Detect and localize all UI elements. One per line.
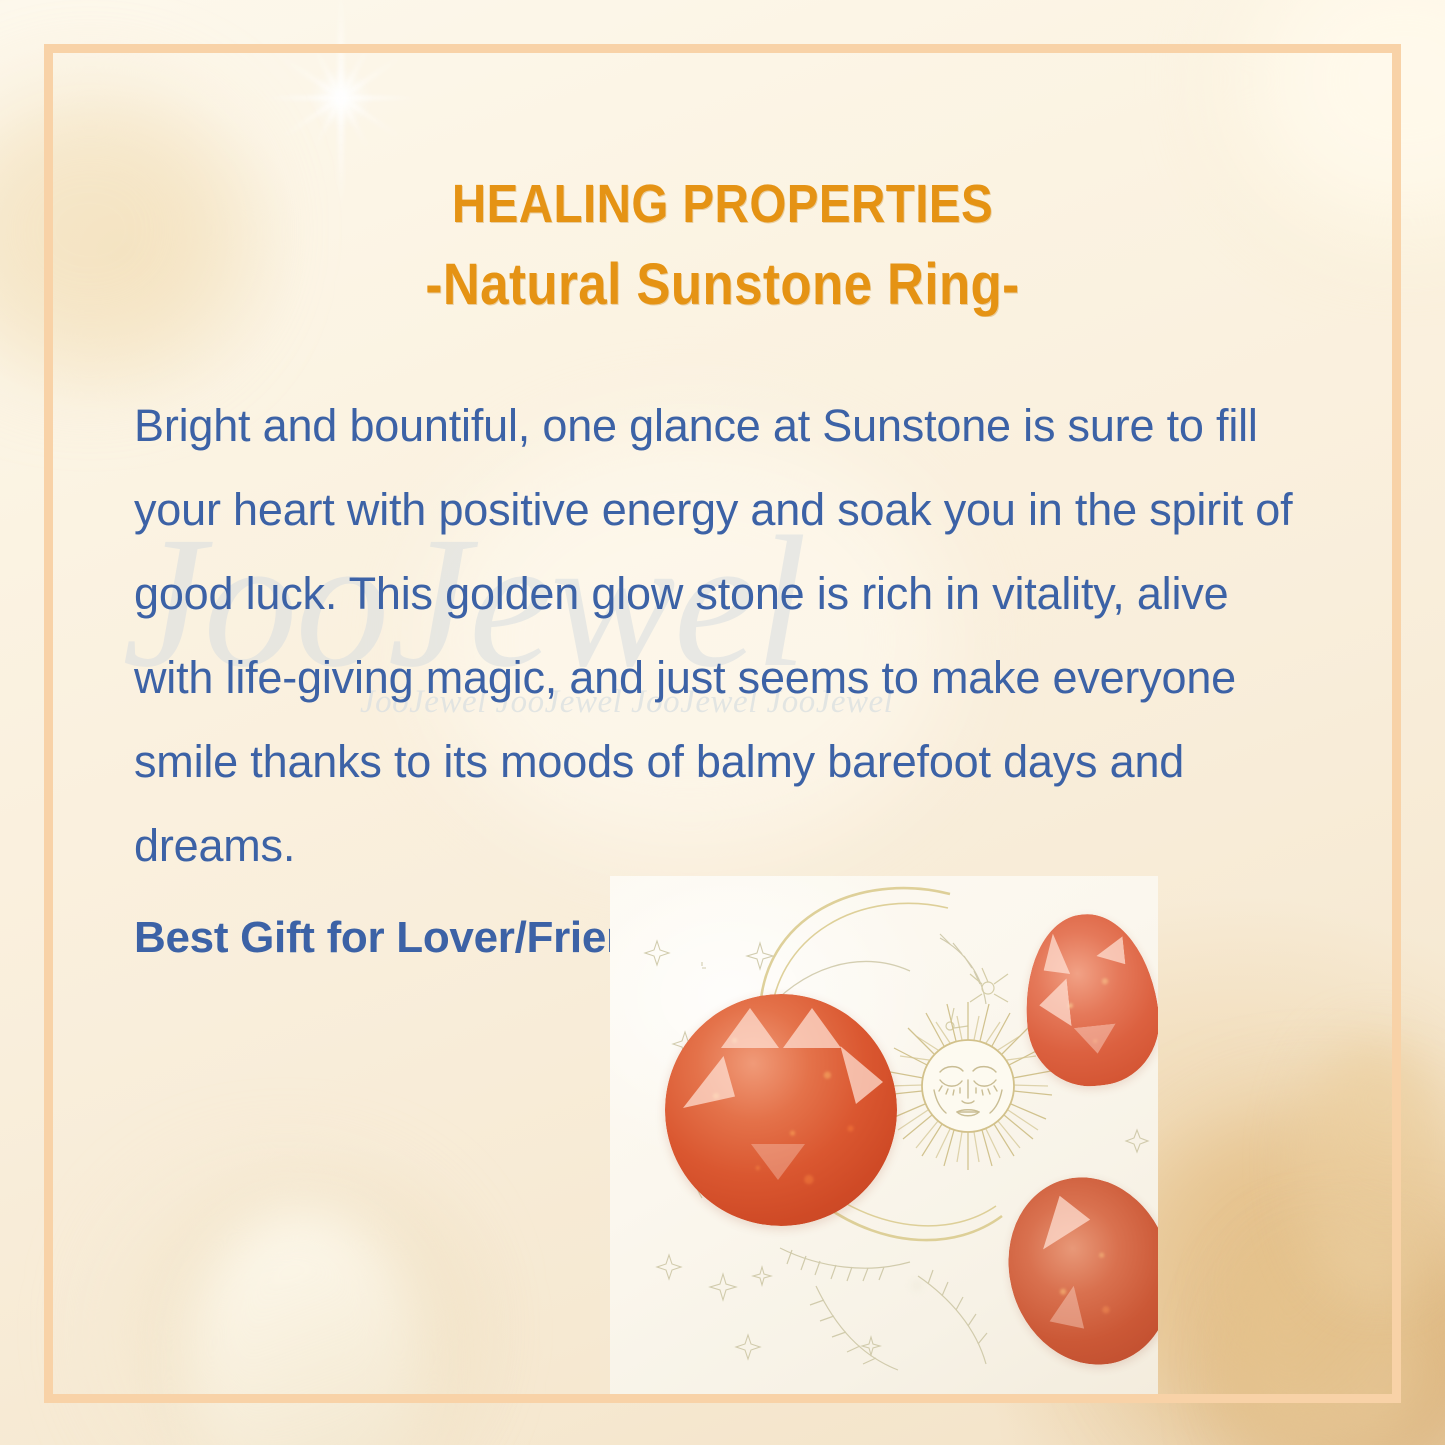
- product-photo-panel: [610, 876, 1158, 1401]
- starburst-sparkle-icon: [258, 15, 423, 180]
- round-brilliant-sunstone-gem: [665, 994, 897, 1226]
- page-title: HEALING PROPERTIES: [87, 172, 1359, 236]
- gold-band-right-edge: [1300, 1040, 1445, 1300]
- bokeh-blob-gold-ring: [1255, 1255, 1445, 1445]
- pearl-shape-bottom-left: [190, 1210, 420, 1445]
- bokeh-blob-bottom-right: [1130, 1110, 1445, 1445]
- heading-block: HEALING PROPERTIES -Natural Sunstone Rin…: [0, 172, 1445, 320]
- page-subtitle: -Natural Sunstone Ring-: [87, 250, 1359, 320]
- gold-band-bottom-right: [1230, 1230, 1430, 1445]
- bokeh-blob-bottom-left: [120, 1180, 450, 1445]
- product-infographic: JooJewel JooJewel JooJewel JooJewel JooJ…: [0, 0, 1445, 1445]
- description-paragraph: Bright and bountiful, one glance at Suns…: [134, 384, 1309, 888]
